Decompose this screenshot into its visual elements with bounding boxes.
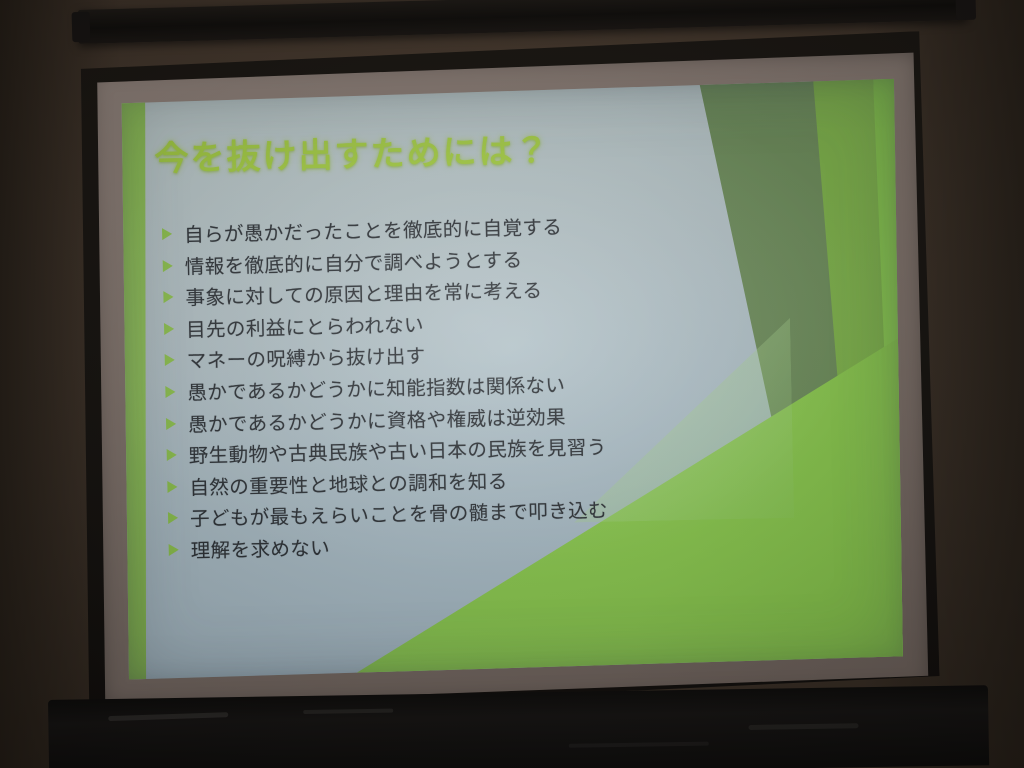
gloss-highlight <box>303 709 393 714</box>
triangle-bullet-icon <box>165 386 175 398</box>
gloss-highlight <box>748 723 858 730</box>
list-item: 子どもが最もえらいことを骨の髄まで叩き込む <box>168 495 858 532</box>
list-item: 理解を求めない <box>169 527 859 564</box>
triangle-bullet-icon <box>168 512 178 524</box>
list-item-label: 自らが愚かだったことを徹底的に自覚する <box>184 217 562 248</box>
slide-title: 今を抜け出すためには？ <box>154 123 551 180</box>
list-item: 情報を徹底的に自分で調べようとする <box>163 242 853 279</box>
triangle-bullet-icon <box>162 228 172 240</box>
list-item-label: マネーの呪縛から抜け出す <box>187 346 426 374</box>
slide-bullet-list: 自らが愚かだったことを徹底的に自覚する 情報を徹底的に自分で調べようとする 事象… <box>162 211 859 573</box>
list-item: マネーの呪縛から抜け出す <box>165 337 855 374</box>
list-item-label: 愚かであるかどうかに資格や権威は逆効果 <box>188 406 566 437</box>
list-item-label: 理解を求めない <box>191 538 331 564</box>
triangle-bullet-icon <box>166 417 176 429</box>
list-item: 事象に対しての原因と理由を常に考える <box>163 274 853 311</box>
triangle-bullet-icon <box>169 544 179 556</box>
list-item-label: 子どもが最もえらいことを骨の髄まで叩き込む <box>190 500 608 531</box>
triangle-bullet-icon <box>163 291 173 303</box>
projector-screen: 今を抜け出すためには？ 自らが愚かだったことを徹底的に自覚する 情報を徹底的に自… <box>62 25 948 723</box>
slide-canvas: 今を抜け出すためには？ 自らが愚かだったことを徹底的に自覚する 情報を徹底的に自… <box>115 78 909 682</box>
list-item: 愚かであるかどうかに資格や権威は逆効果 <box>166 400 856 437</box>
dark-furniture-below-screen <box>48 685 989 768</box>
roller-cap-right <box>955 0 976 20</box>
list-item-label: 事象に対しての原因と理由を常に考える <box>185 280 542 310</box>
list-item-label: 自然の重要性と地球との調和を知る <box>189 471 508 500</box>
list-item: 自らが愚かだったことを徹底的に自覚する <box>162 211 852 248</box>
roller-cap-left <box>72 12 91 42</box>
triangle-bullet-icon <box>167 481 177 493</box>
list-item-label: 野生動物や古典民族や古い日本の民族を見習う <box>189 437 607 468</box>
list-item-label: 情報を徹底的に自分で調べようとする <box>185 249 523 279</box>
list-item-label: 目先の利益にとらわれない <box>186 314 424 342</box>
gloss-highlight <box>569 742 709 748</box>
list-item: 自然の重要性と地球との調和を知る <box>167 463 857 500</box>
triangle-bullet-icon <box>163 259 173 271</box>
projected-slide: 今を抜け出すためには？ 自らが愚かだったことを徹底的に自覚する 情報を徹底的に自… <box>115 78 909 682</box>
list-item: 愚かであるかどうかに知能指数は関係ない <box>165 369 855 406</box>
triangle-bullet-icon <box>164 323 174 335</box>
list-item-label: 愚かであるかどうかに知能指数は関係ない <box>187 375 565 406</box>
triangle-bullet-icon <box>167 449 177 461</box>
list-item: 野生動物や古典民族や古い日本の民族を見習う <box>167 432 857 469</box>
list-item: 目先の利益にとらわれない <box>164 305 854 342</box>
gloss-highlight <box>108 712 228 721</box>
triangle-bullet-icon <box>165 354 175 366</box>
photo-scene: 今を抜け出すためには？ 自らが愚かだったことを徹底的に自覚する 情報を徹底的に自… <box>0 0 1024 768</box>
